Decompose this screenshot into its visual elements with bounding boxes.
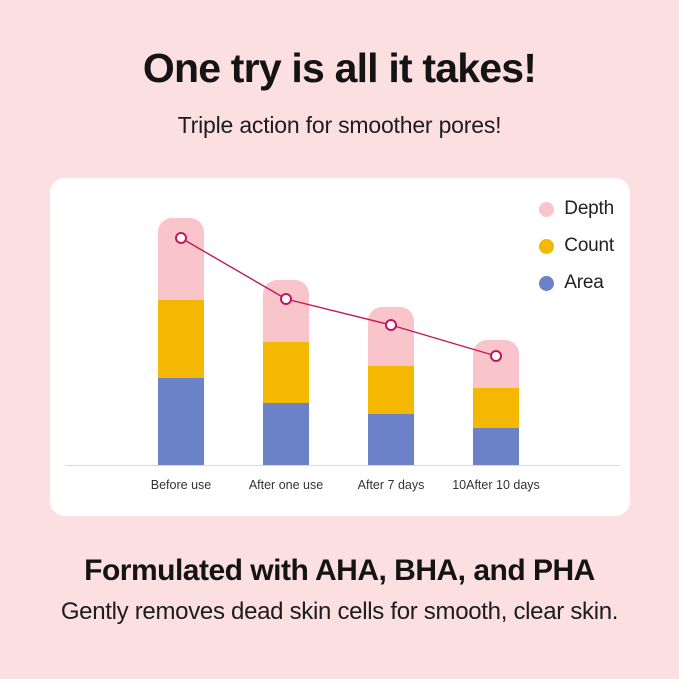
legend-item-count: Count <box>539 235 614 257</box>
chart-plot-area: Before useAfter one useAfter 7 days10Aft… <box>50 178 630 516</box>
legend-swatch-count-icon <box>539 239 554 254</box>
bar-segment-area <box>473 428 519 465</box>
x-axis-line <box>65 465 620 466</box>
page-subtitle: Triple action for smoother pores! <box>0 112 679 139</box>
bar-segment-depth <box>263 280 309 342</box>
stacked-bar <box>368 307 414 465</box>
trend-line <box>181 238 496 356</box>
bar-segment-area <box>263 403 309 465</box>
legend-label: Area <box>564 272 603 294</box>
page-title: One try is all it takes! <box>0 46 679 90</box>
bar-segment-area <box>158 378 204 465</box>
bar-segment-area <box>368 414 414 465</box>
x-axis-label: After one use <box>249 478 323 492</box>
legend-swatch-area-icon <box>539 276 554 291</box>
legend-label: Count <box>564 235 614 257</box>
chart-legend: DepthCountArea <box>539 198 614 294</box>
promo-graphic: One try is all it takes! Triple action f… <box>0 0 679 679</box>
bar-segment-count <box>368 366 414 414</box>
bar-segment-depth <box>368 307 414 366</box>
x-axis-label: Before use <box>151 478 211 492</box>
stacked-bar <box>473 340 519 465</box>
stacked-bar <box>158 218 204 465</box>
legend-item-depth: Depth <box>539 198 614 220</box>
bar-segment-depth <box>158 218 204 300</box>
legend-swatch-depth-icon <box>539 202 554 217</box>
bar-segment-count <box>473 388 519 428</box>
bar-segment-depth <box>473 340 519 388</box>
footer-headline: Formulated with AHA, BHA, and PHA <box>0 554 679 588</box>
legend-item-area: Area <box>539 272 614 294</box>
stacked-bar <box>263 280 309 465</box>
x-axis-label: After 7 days <box>358 478 425 492</box>
chart-card: Before useAfter one useAfter 7 days10Aft… <box>50 178 630 516</box>
footer-subtext: Gently removes dead skin cells for smoot… <box>0 598 679 626</box>
bar-segment-count <box>263 342 309 403</box>
x-axis-label: 10After 10 days <box>452 478 540 492</box>
legend-label: Depth <box>564 198 614 220</box>
bar-segment-count <box>158 300 204 378</box>
